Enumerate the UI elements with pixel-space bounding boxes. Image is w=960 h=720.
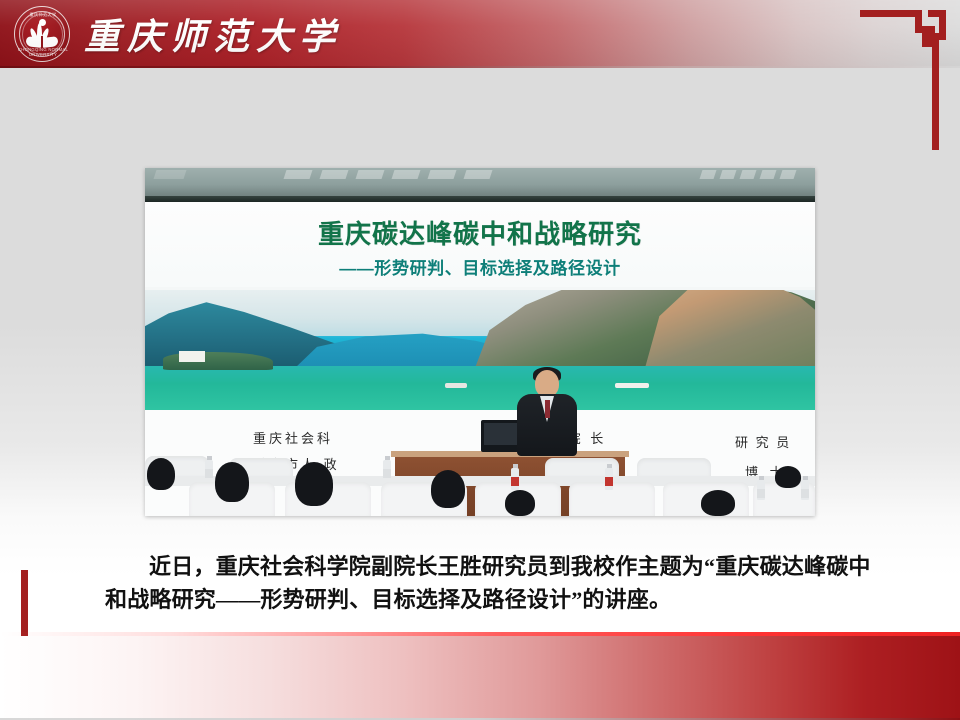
slide-title: 重庆碳达峰碳中和战略研究: [145, 214, 815, 251]
university-name-title: 重庆师范大学: [84, 8, 342, 60]
slide-page: 重庆师范大学 CHONGQING NORMAL UNIVERSITY 重庆师范大…: [0, 0, 960, 720]
logo-arc-bottom-text: CHONGQING NORMAL UNIVERSITY: [15, 47, 71, 57]
slide-subtitle: ——形势研判、目标选择及路径设计: [145, 254, 815, 279]
ceiling-strip: [145, 168, 815, 198]
three-gorges-scenery-image: [145, 290, 815, 410]
decorative-corner-top-right-icon: [860, 10, 946, 150]
audience-seating: [145, 438, 815, 516]
page-header: 重庆师范大学 CHONGQING NORMAL UNIVERSITY 重庆师范大…: [0, 0, 960, 68]
footer-gradient-band: [0, 636, 960, 720]
university-logo-icon: 重庆师范大学 CHONGQING NORMAL UNIVERSITY: [14, 6, 70, 62]
lecture-hall-photograph: 重庆碳达峰碳中和战略研究 ——形势研判、目标选择及路径设计 重庆社会科 重庆市人…: [145, 168, 815, 516]
logo-arc-top-text: 重庆师范大学: [15, 12, 71, 18]
article-caption-text: 近日，重庆社会科学院副院长王胜研究员到我校作主题为“重庆碳达峰碳中和战略研究——…: [105, 550, 875, 616]
header-underline-divider: [0, 66, 960, 68]
projection-screen: 重庆碳达峰碳中和战略研究 ——形势研判、目标选择及路径设计 重庆社会科 重庆市人…: [145, 202, 815, 516]
page-footer: [0, 632, 960, 720]
